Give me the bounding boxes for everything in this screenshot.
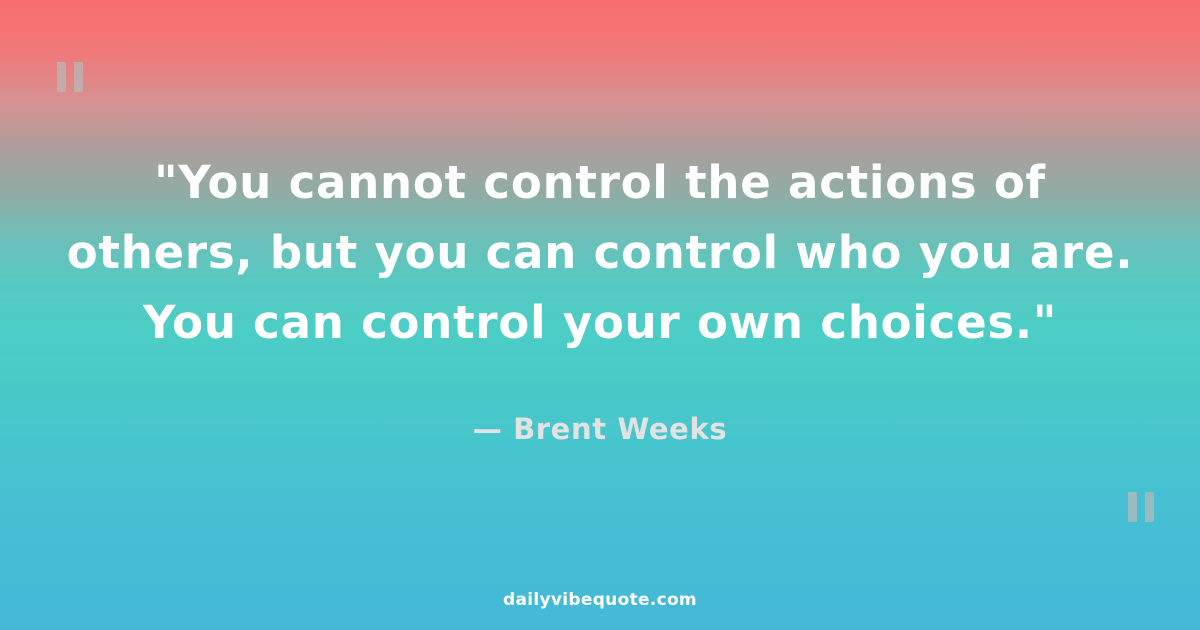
card-content: "You cannot control the actions of other…	[0, 0, 1200, 630]
quote-line-3: You can control your own choices."	[30, 288, 1170, 358]
site-watermark: dailyvibequote.com	[503, 590, 697, 610]
quote-card: "You cannot control the actions of other…	[0, 0, 1200, 630]
footer: dailyvibequote.com	[0, 590, 1200, 610]
quote-line-2: others, but you can control who you are.	[30, 218, 1170, 288]
quote-text: "You cannot control the actions of other…	[30, 148, 1170, 358]
quote-line-1: "You cannot control the actions of	[30, 148, 1170, 218]
quote-attribution: — Brent Weeks	[473, 412, 727, 446]
